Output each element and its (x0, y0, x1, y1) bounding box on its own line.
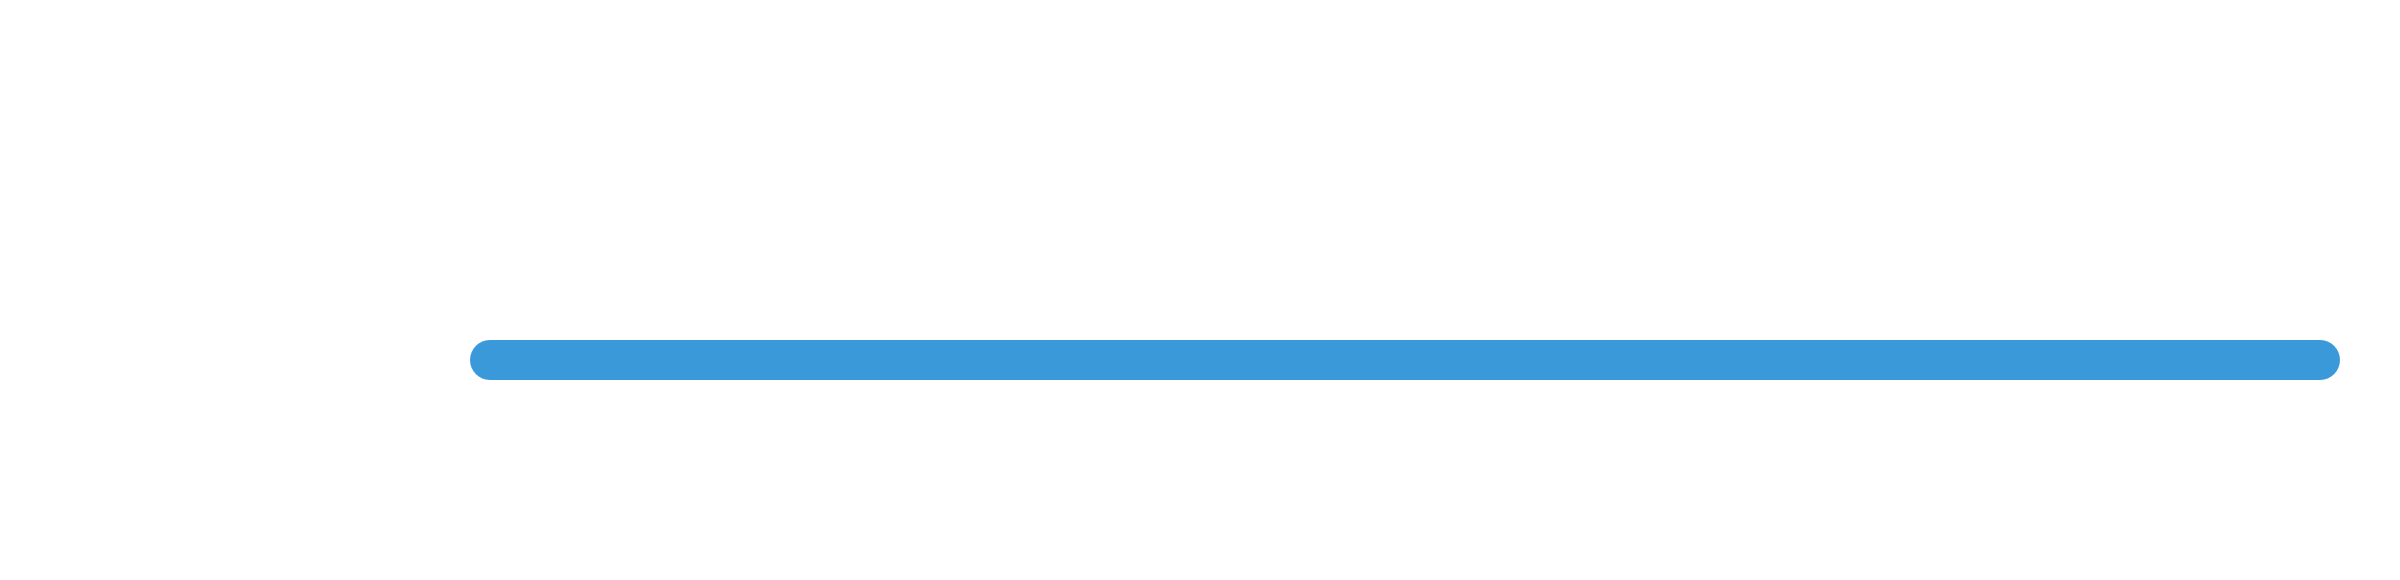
phylostratum-progress-track[interactable] (470, 340, 2340, 380)
species-columns (459, 0, 2377, 580)
track-filled-region (470, 340, 2340, 380)
phylostratum-figure (0, 0, 2400, 580)
